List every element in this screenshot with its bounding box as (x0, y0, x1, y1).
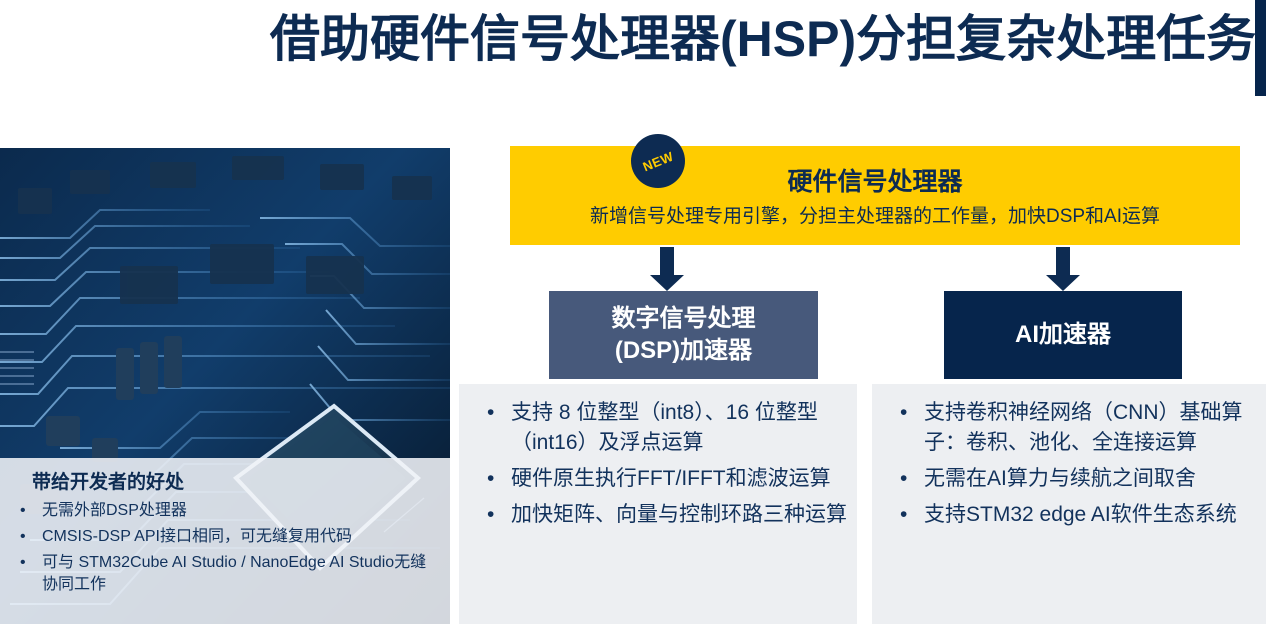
ai-feature-panel: • 支持卷积神经网络（CNN）基础算子：卷积、池化、全连接运算 • 无需在AI算… (872, 384, 1266, 624)
dsp-header-line2: (DSP)加速器 (612, 335, 756, 367)
dsp-feature-panel: • 支持 8 位整型（int8）、16 位整型（int16）及浮点运算 • 硬件… (459, 384, 857, 624)
list-item-text: 支持卷积神经网络（CNN）基础算子：卷积、池化、全连接运算 (924, 401, 1243, 454)
list-item: • CMSIS-DSP API接口相同，可无缝复用代码 (14, 526, 436, 548)
list-item: • 可与 STM32Cube AI Studio / NanoEdge AI S… (14, 552, 436, 596)
bullet-icon: • (900, 464, 907, 494)
list-item-text: 无需在AI算力与续航之间取舍 (924, 467, 1196, 490)
dsp-accelerator-header: 数字信号处理 (DSP)加速器 (549, 291, 818, 379)
new-badge: NEW (631, 134, 685, 188)
list-item: • 支持 8 位整型（int8）、16 位整型（int16）及浮点运算 (469, 398, 847, 458)
bullet-icon: • (20, 500, 26, 522)
list-item: • 硬件原生执行FFT/IFFT和滤波运算 (469, 464, 847, 494)
list-item: • 无需外部DSP处理器 (14, 500, 436, 522)
photo-caption-list: • 无需外部DSP处理器 • CMSIS-DSP API接口相同，可无缝复用代码… (14, 500, 436, 596)
list-item: • 支持STM32 edge AI软件生态系统 (882, 500, 1256, 530)
list-item: • 加快矩阵、向量与控制环路三种运算 (469, 500, 847, 530)
arrow-down-icon-dsp (650, 247, 684, 291)
bullet-icon: • (20, 526, 26, 548)
ai-header-line1: AI加速器 (1015, 319, 1111, 351)
hsp-banner-title: 硬件信号处理器 (510, 166, 1240, 198)
title-accent-rule (1255, 0, 1266, 96)
arrow-head (650, 275, 684, 291)
bullet-icon: • (900, 500, 907, 530)
list-item: • 支持卷积神经网络（CNN）基础算子：卷积、池化、全连接运算 (882, 398, 1256, 458)
list-item-text: 支持STM32 edge AI软件生态系统 (924, 503, 1237, 526)
bullet-icon: • (900, 398, 907, 428)
bullet-icon: • (487, 464, 494, 494)
arrow-down-icon-ai (1046, 247, 1080, 291)
bullet-icon: • (487, 398, 494, 428)
list-item-text: 加快矩阵、向量与控制环路三种运算 (511, 503, 847, 526)
arrow-head (1046, 275, 1080, 291)
photo-caption: 带给开发者的好处 • 无需外部DSP处理器 • CMSIS-DSP API接口相… (0, 458, 450, 624)
hsp-banner-subtitle: 新增信号处理专用引擎，分担主处理器的工作量，加快DSP和AI运算 (510, 203, 1240, 231)
list-item: • 无需在AI算力与续航之间取舍 (882, 464, 1256, 494)
bullet-icon: • (20, 552, 26, 574)
page-title: 借助硬件信号处理器(HSP)分担复杂处理任务 (270, 8, 1245, 70)
dsp-header-line1: 数字信号处理 (612, 303, 756, 335)
arrow-stem (1056, 247, 1070, 275)
ai-accelerator-header: AI加速器 (944, 291, 1182, 379)
dsp-feature-list: • 支持 8 位整型（int8）、16 位整型（int16）及浮点运算 • 硬件… (469, 398, 847, 530)
hsp-banner: 硬件信号处理器 新增信号处理专用引擎，分担主处理器的工作量，加快DSP和AI运算 (510, 146, 1240, 245)
list-item-text: CMSIS-DSP API接口相同，可无缝复用代码 (42, 528, 352, 545)
arrow-stem (660, 247, 674, 275)
photo-caption-heading: 带给开发者的好处 (32, 470, 436, 496)
slide-root: 借助硬件信号处理器(HSP)分担复杂处理任务 (0, 0, 1266, 624)
bullet-icon: • (487, 500, 494, 530)
list-item-text: 可与 STM32Cube AI Studio / NanoEdge AI Stu… (42, 554, 426, 593)
list-item-text: 硬件原生执行FFT/IFFT和滤波运算 (511, 467, 831, 490)
list-item-text: 支持 8 位整型（int8）、16 位整型（int16）及浮点运算 (511, 401, 818, 454)
ai-feature-list: • 支持卷积神经网络（CNN）基础算子：卷积、池化、全连接运算 • 无需在AI算… (882, 398, 1256, 530)
list-item-text: 无需外部DSP处理器 (42, 502, 187, 519)
